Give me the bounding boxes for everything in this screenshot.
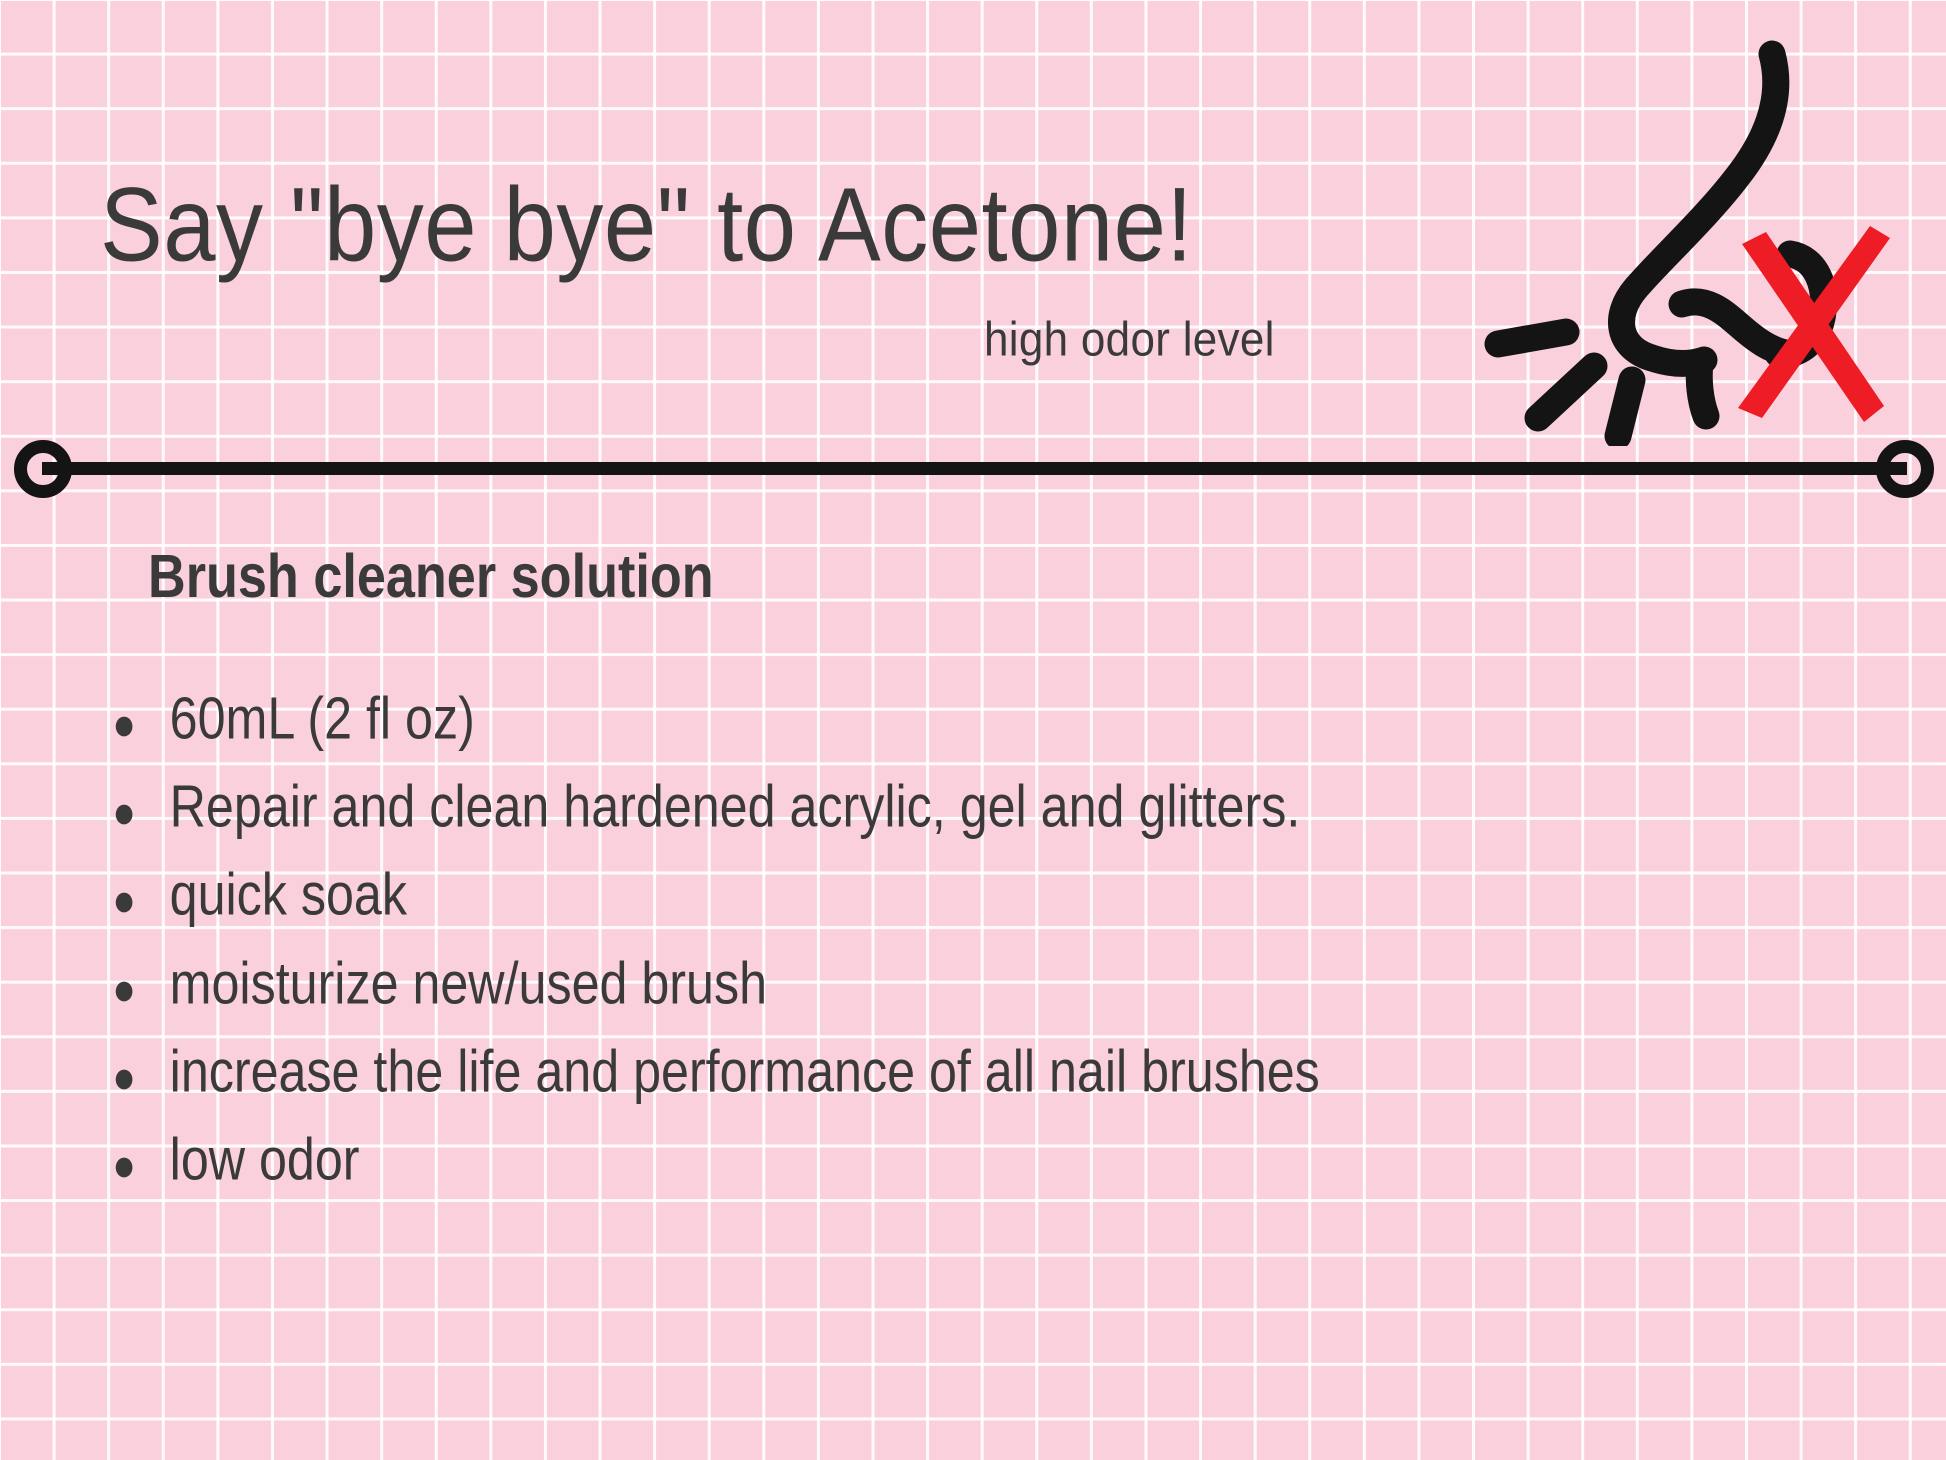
nose-smell-x-icon — [1466, 36, 1916, 446]
divider-line — [42, 462, 1907, 475]
list-item: increase the life and performance of all… — [112, 1041, 1749, 1104]
header-section: Say "bye bye" to Acetone! high odor leve… — [0, 0, 1946, 440]
divider-endpoint-right — [1876, 440, 1934, 498]
list-item: low odor — [112, 1129, 1749, 1192]
divider-endpoint-left — [14, 440, 72, 498]
section-heading: Brush cleaner solution — [148, 546, 714, 607]
list-item: Repair and clean hardened acrylic, gel a… — [112, 776, 1749, 839]
product-info-slide: Say "bye bye" to Acetone! high odor leve… — [0, 0, 1946, 1460]
list-item: 60mL (2 fl oz) — [112, 688, 1749, 751]
list-item: quick soak — [112, 864, 1749, 927]
header-subtitle: high odor level — [984, 316, 1275, 364]
feature-list: 60mL (2 fl oz) Repair and clean hardened… — [112, 688, 1872, 1217]
section-divider — [0, 440, 1946, 498]
list-item: moisturize new/used brush — [112, 953, 1749, 1016]
page-title: Say "bye bye" to Acetone! — [100, 172, 1193, 277]
